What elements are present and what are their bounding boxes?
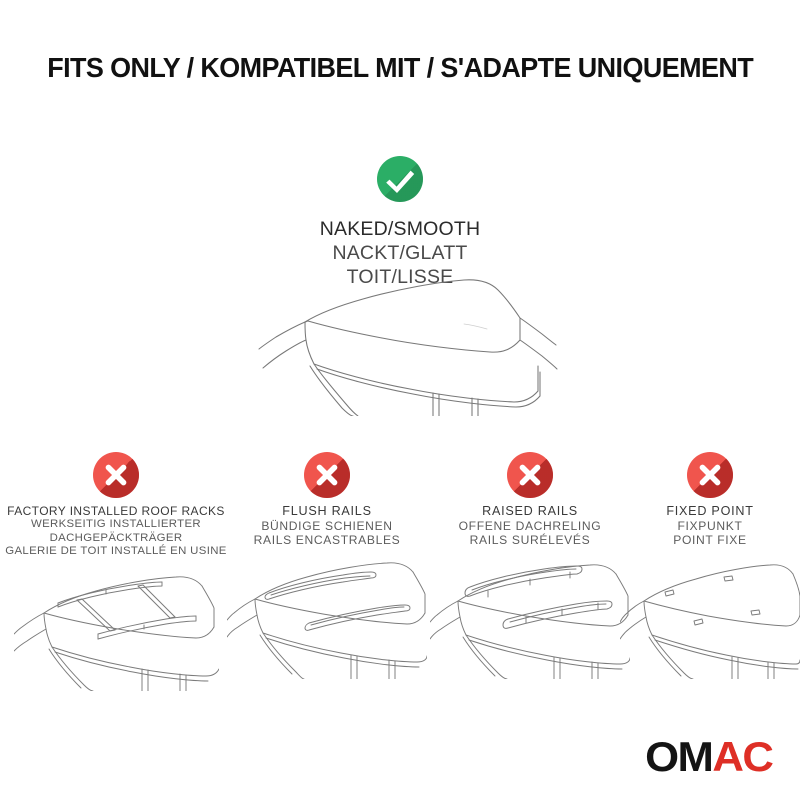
item-labels: FIXED POINT FIXPUNKT POINT FIXE (620, 504, 800, 547)
x-circle-icon (93, 452, 139, 498)
badge-wrap (427, 452, 633, 504)
compatible-section: NAKED/SMOOTH NACKT/GLATT TOIT/LISSE (0, 156, 800, 289)
x-mark-glyph (93, 452, 139, 498)
item-label-de-1: FIXPUNKT (620, 519, 800, 533)
car-roof-factory-rack-illustration (2, 563, 230, 693)
car-roof-raised-rails-illustration (427, 551, 633, 681)
item-label-en: RAISED RAILS (427, 504, 633, 519)
incompatible-item-fixed-point: FIXED POINT FIXPUNKT POINT FIXE (620, 452, 800, 681)
item-label-de-1: WERKSEITIG INSTALLIERTER (2, 518, 230, 531)
badge-wrap (2, 452, 230, 504)
item-labels: RAISED RAILS OFFENE DACHRELING RAILS SUR… (427, 504, 633, 547)
item-label-fr: RAILS ENCASTRABLES (224, 533, 430, 547)
logo-part-accent: AC (712, 733, 772, 780)
incompatible-item-factory-rack: FACTORY INSTALLED ROOF RACKS WERKSEITIG … (2, 452, 230, 693)
x-circle-icon (687, 452, 733, 498)
naked-roof-lines (258, 276, 558, 416)
item-label-en: FIXED POINT (620, 504, 800, 519)
x-mark-glyph (687, 452, 733, 498)
item-label-fr: GALERIE DE TOIT INSTALLÉ EN USINE (2, 545, 230, 558)
x-circle-icon (304, 452, 350, 498)
item-label-en: FACTORY INSTALLED ROOF RACKS (2, 504, 230, 518)
logo-part-dark: OM (645, 733, 712, 780)
fixed-point-lines (620, 551, 800, 679)
item-labels: FLUSH RAILS BÜNDIGE SCHIENEN RAILS ENCAS… (224, 504, 430, 547)
car-roof-flush-rails-illustration (224, 551, 430, 681)
x-circle-icon (507, 452, 553, 498)
compatible-label-en: NAKED/SMOOTH (0, 218, 800, 242)
car-roof-naked-illustration (258, 276, 558, 416)
x-mark-glyph (304, 452, 350, 498)
item-label-de-1: BÜNDIGE SCHIENEN (224, 519, 430, 533)
compatible-label-de: NACKT/GLATT (0, 242, 800, 266)
item-label-de-1: OFFENE DACHRELING (427, 519, 633, 533)
badge-wrap (224, 452, 430, 504)
item-label-fr: RAILS SURÉLEVÉS (427, 533, 633, 547)
incompatible-section: FACTORY INSTALLED ROOF RACKS WERKSEITIG … (0, 452, 800, 697)
item-label-de-2: DACHGEPÄCKTRÄGER (2, 532, 230, 545)
incompatible-item-raised-rails: RAISED RAILS OFFENE DACHRELING RAILS SUR… (427, 452, 633, 681)
item-label-en: FLUSH RAILS (224, 504, 430, 519)
page-title: FITS ONLY / KOMPATIBEL MIT / S'ADAPTE UN… (0, 52, 800, 84)
check-mark-glyph (377, 156, 423, 202)
factory-rack-lines (14, 563, 219, 691)
flush-rails-lines (227, 551, 427, 679)
raised-rails-lines (430, 551, 630, 679)
item-label-fr: POINT FIXE (620, 533, 800, 547)
compatibility-infographic: FITS ONLY / KOMPATIBEL MIT / S'ADAPTE UN… (0, 0, 800, 800)
check-circle-icon (377, 156, 423, 202)
badge-wrap (620, 452, 800, 504)
incompatible-item-flush-rails: FLUSH RAILS BÜNDIGE SCHIENEN RAILS ENCAS… (224, 452, 430, 681)
car-roof-fixed-point-illustration (620, 551, 800, 681)
omac-logo: OMAC (645, 736, 772, 778)
item-labels: FACTORY INSTALLED ROOF RACKS WERKSEITIG … (2, 504, 230, 559)
x-mark-glyph (507, 452, 553, 498)
page-title-text: FITS ONLY / KOMPATIBEL MIT / S'ADAPTE UN… (47, 52, 753, 84)
